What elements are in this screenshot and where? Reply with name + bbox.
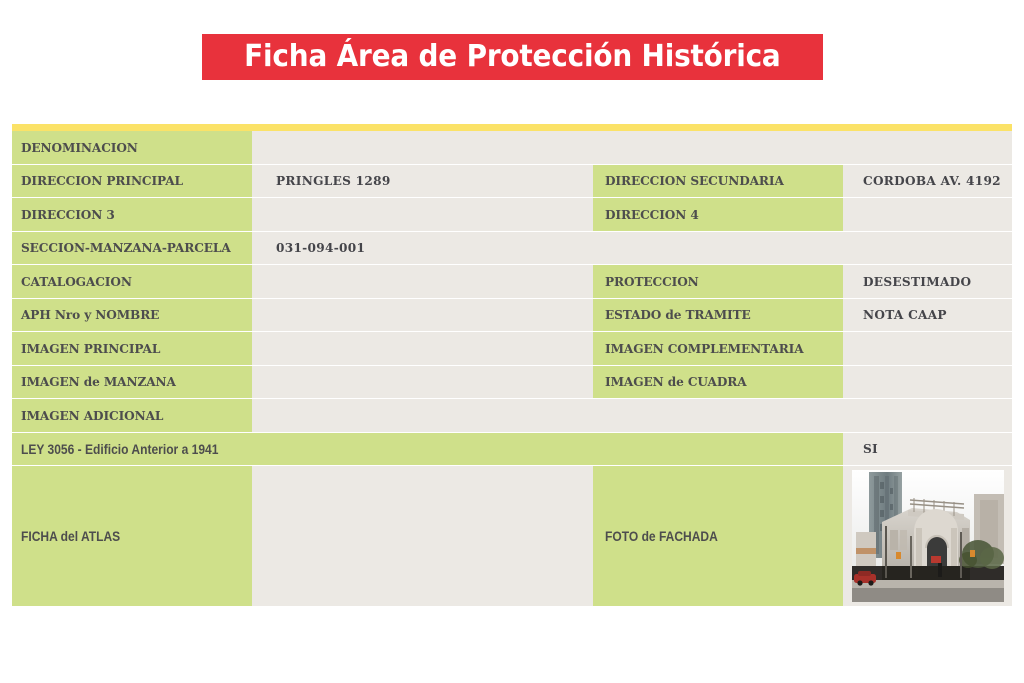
value-text: SI — [863, 441, 878, 456]
field-value-imagen-de-cuadra[interactable] — [843, 366, 1012, 399]
value-text: CORDOBA AV. 4192 — [863, 173, 1001, 188]
label-text: LEY 3056 - Edificio Anterior a 1941 — [21, 441, 218, 457]
field-value-right-empty-3[interactable] — [843, 232, 1012, 265]
field-value-imagen-adicional[interactable] — [252, 399, 593, 432]
label-text: IMAGEN COMPLEMENTARIA — [605, 341, 804, 356]
label-text: DIRECCION 4 — [605, 207, 699, 222]
field-value-direccion-principal[interactable]: PRINGLES 1289 — [252, 165, 593, 198]
field-value-right-empty-8[interactable] — [843, 399, 1012, 432]
ficha-table: DENOMINACION DIRECCION PRINCIPAL PRINGLE… — [12, 124, 1012, 606]
field-value-right-empty-0[interactable] — [843, 131, 1012, 164]
field-value-imagen-de-manzana[interactable] — [252, 366, 593, 399]
table-row: SECCION-MANZANA-PARCELA 031-094-001 — [12, 232, 1012, 266]
field-label-imagen-de-cuadra: IMAGEN de CUADRA — [593, 366, 843, 399]
field-value-ficha-del-atlas-plano[interactable] — [252, 466, 593, 606]
facade-photograph[interactable] — [852, 470, 1004, 602]
table-row: APH Nro y NOMBRE ESTADO de TRAMITE NOTA … — [12, 299, 1012, 333]
field-label-proteccion: PROTECCION — [593, 265, 843, 298]
table-row: DIRECCION PRINCIPAL PRINGLES 1289 DIRECC… — [12, 165, 1012, 199]
field-label-right-empty-0 — [593, 131, 843, 164]
field-label-denominacion: DENOMINACION — [12, 131, 252, 164]
field-value-imagen-principal[interactable] — [252, 332, 593, 365]
field-value-imagen-complementaria[interactable] — [843, 332, 1012, 365]
field-label-estado-de-tramite: ESTADO de TRAMITE — [593, 299, 843, 332]
table-row: CATALOGACION PROTECCION DESESTIMADO — [12, 265, 1012, 299]
label-text: FICHA del ATLAS — [21, 528, 120, 544]
field-label-direccion-principal: DIRECCION PRINCIPAL — [12, 165, 252, 198]
label-text: PROTECCION — [605, 274, 699, 289]
field-value-seccion-manzana-parcela[interactable]: 031-094-001 — [252, 232, 593, 265]
label-text: SECCION-MANZANA-PARCELA — [21, 240, 231, 255]
table-top-accent-strip — [12, 124, 1012, 131]
label-text: DIRECCION 3 — [21, 207, 115, 222]
field-label-aph-nro-y-nombre: APH Nro y NOMBRE — [12, 299, 252, 332]
label-text: IMAGEN PRINCIPAL — [21, 341, 160, 356]
label-text: DIRECCION PRINCIPAL — [21, 173, 183, 188]
table-row: IMAGEN de MANZANA IMAGEN de CUADRA — [12, 366, 1012, 400]
label-text: IMAGEN de MANZANA — [21, 374, 176, 389]
field-value-ley-3056[interactable]: SI — [843, 433, 1012, 466]
field-value-direccion-secundaria[interactable]: CORDOBA AV. 4192 — [843, 165, 1012, 198]
field-label-direccion-secundaria: DIRECCION SECUNDARIA — [593, 165, 843, 198]
field-label-catalogacion: CATALOGACION — [12, 265, 252, 298]
table-row: DENOMINACION — [12, 131, 1012, 165]
field-value-aph-nro-y-nombre[interactable] — [252, 299, 593, 332]
label-text: ESTADO de TRAMITE — [605, 307, 751, 322]
field-label-right-empty-8 — [593, 399, 843, 432]
field-label-imagen-adicional: IMAGEN ADICIONAL — [12, 399, 252, 432]
field-label-ley-3056: LEY 3056 - Edificio Anterior a 1941 — [12, 433, 843, 466]
table-row-images: FICHA del ATLAS FOTO de FACHADA — [12, 466, 1012, 606]
label-text: IMAGEN de CUADRA — [605, 374, 747, 389]
title-banner: Ficha Área de Protección Histórica — [202, 34, 823, 80]
field-value-catalogacion[interactable] — [252, 265, 593, 298]
label-text: FOTO de FACHADA — [605, 528, 718, 544]
field-value-direccion-4[interactable] — [843, 198, 1012, 231]
value-text: DESESTIMADO — [863, 274, 971, 289]
field-value-proteccion[interactable]: DESESTIMADO — [843, 265, 1012, 298]
field-value-denominacion[interactable] — [252, 131, 593, 164]
label-text: CATALOGACION — [21, 274, 132, 289]
field-value-foto-de-fachada[interactable] — [843, 466, 1012, 606]
table-row: IMAGEN PRINCIPAL IMAGEN COMPLEMENTARIA — [12, 332, 1012, 366]
table-row: IMAGEN ADICIONAL — [12, 399, 1012, 433]
label-text: DENOMINACION — [21, 140, 138, 155]
field-label-ficha-del-atlas: FICHA del ATLAS — [12, 466, 252, 606]
table-row: DIRECCION 3 DIRECCION 4 — [12, 198, 1012, 232]
page-title: Ficha Área de Protección Histórica — [244, 42, 780, 72]
field-label-direccion-4: DIRECCION 4 — [593, 198, 843, 231]
label-text: IMAGEN ADICIONAL — [21, 408, 163, 423]
value-text: 031-094-001 — [276, 240, 365, 255]
field-label-foto-de-fachada: FOTO de FACHADA — [593, 466, 843, 606]
label-text: DIRECCION SECUNDARIA — [605, 173, 784, 188]
field-label-direccion-3: DIRECCION 3 — [12, 198, 252, 231]
value-text: PRINGLES 1289 — [276, 173, 391, 188]
table-row-ley-3056: LEY 3056 - Edificio Anterior a 1941 SI — [12, 433, 1012, 467]
field-label-imagen-de-manzana: IMAGEN de MANZANA — [12, 366, 252, 399]
field-label-imagen-complementaria: IMAGEN COMPLEMENTARIA — [593, 332, 843, 365]
label-text: APH Nro y NOMBRE — [21, 307, 159, 322]
field-label-right-empty-3 — [593, 232, 843, 265]
field-label-seccion-manzana-parcela: SECCION-MANZANA-PARCELA — [12, 232, 252, 265]
field-value-estado-de-tramite[interactable]: NOTA CAAP — [843, 299, 1012, 332]
field-value-direccion-3[interactable] — [252, 198, 593, 231]
value-text: NOTA CAAP — [863, 307, 947, 322]
field-label-imagen-principal: IMAGEN PRINCIPAL — [12, 332, 252, 365]
